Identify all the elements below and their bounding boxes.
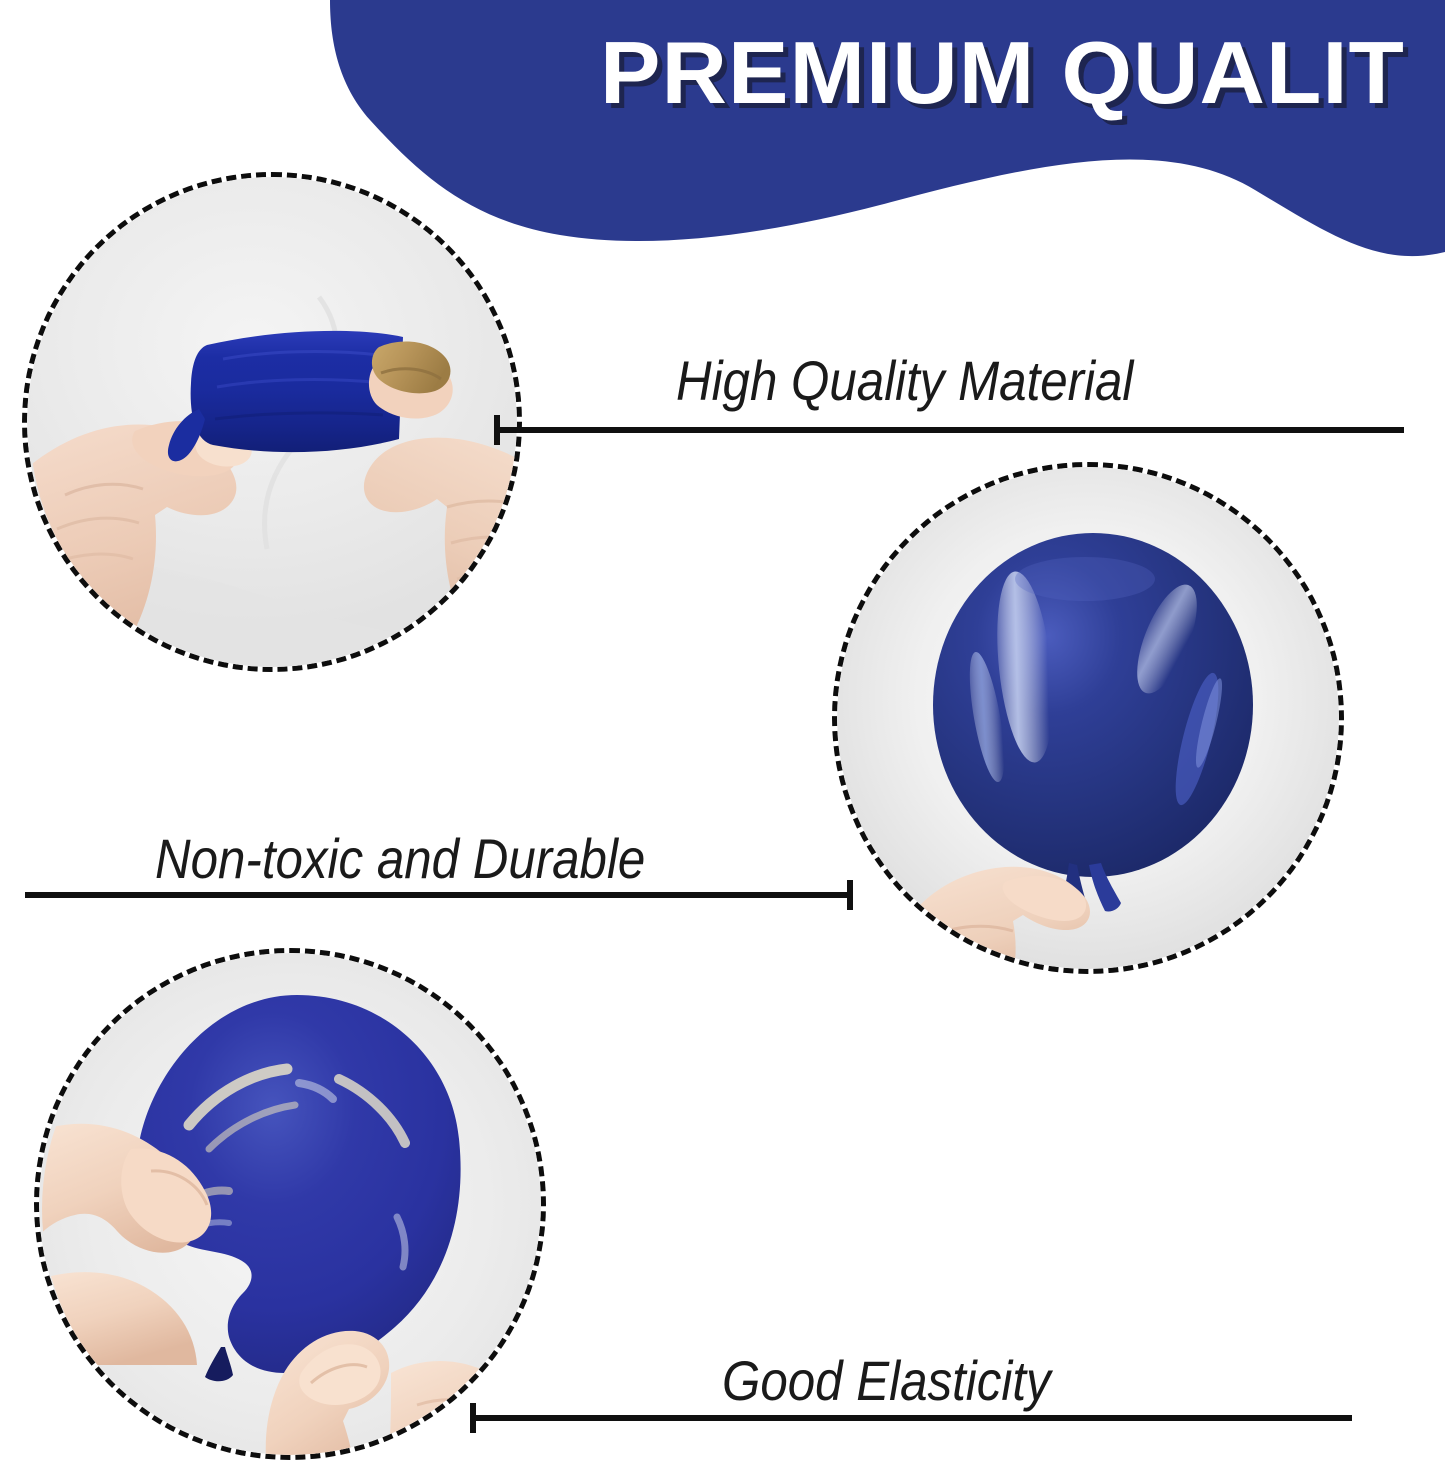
photo-inflated-balloon (837, 467, 1339, 969)
connector-cap-left (470, 1403, 476, 1433)
stretch-illustration (27, 177, 517, 667)
photo-squeezing-balloon (39, 953, 541, 1455)
feature-photo-circle-non-toxic-and-durable (832, 462, 1344, 974)
connector-cap-right (847, 880, 853, 910)
feature-label-good-elasticity: Good Elasticity (722, 1348, 1051, 1413)
connector-cap-left (494, 415, 500, 445)
feature-photo-circle-high-quality-material (22, 172, 522, 672)
photo-stretching-balloon (27, 177, 517, 667)
product-feature-infographic: PREMIUM QUALIT (0, 0, 1445, 1474)
banner-title: PREMIUM QUALIT (600, 22, 1445, 124)
connector-line-high-quality-material (494, 427, 1404, 433)
connector-line-non-toxic-and-durable (25, 892, 853, 898)
connector-line-good-elasticity (470, 1415, 1352, 1421)
inflated-balloon-illustration (837, 467, 1339, 969)
feature-photo-circle-good-elasticity (34, 948, 546, 1460)
squeeze-illustration (39, 953, 541, 1455)
feature-label-non-toxic-and-durable: Non-toxic and Durable (155, 826, 645, 891)
feature-label-high-quality-material: High Quality Material (676, 348, 1133, 413)
